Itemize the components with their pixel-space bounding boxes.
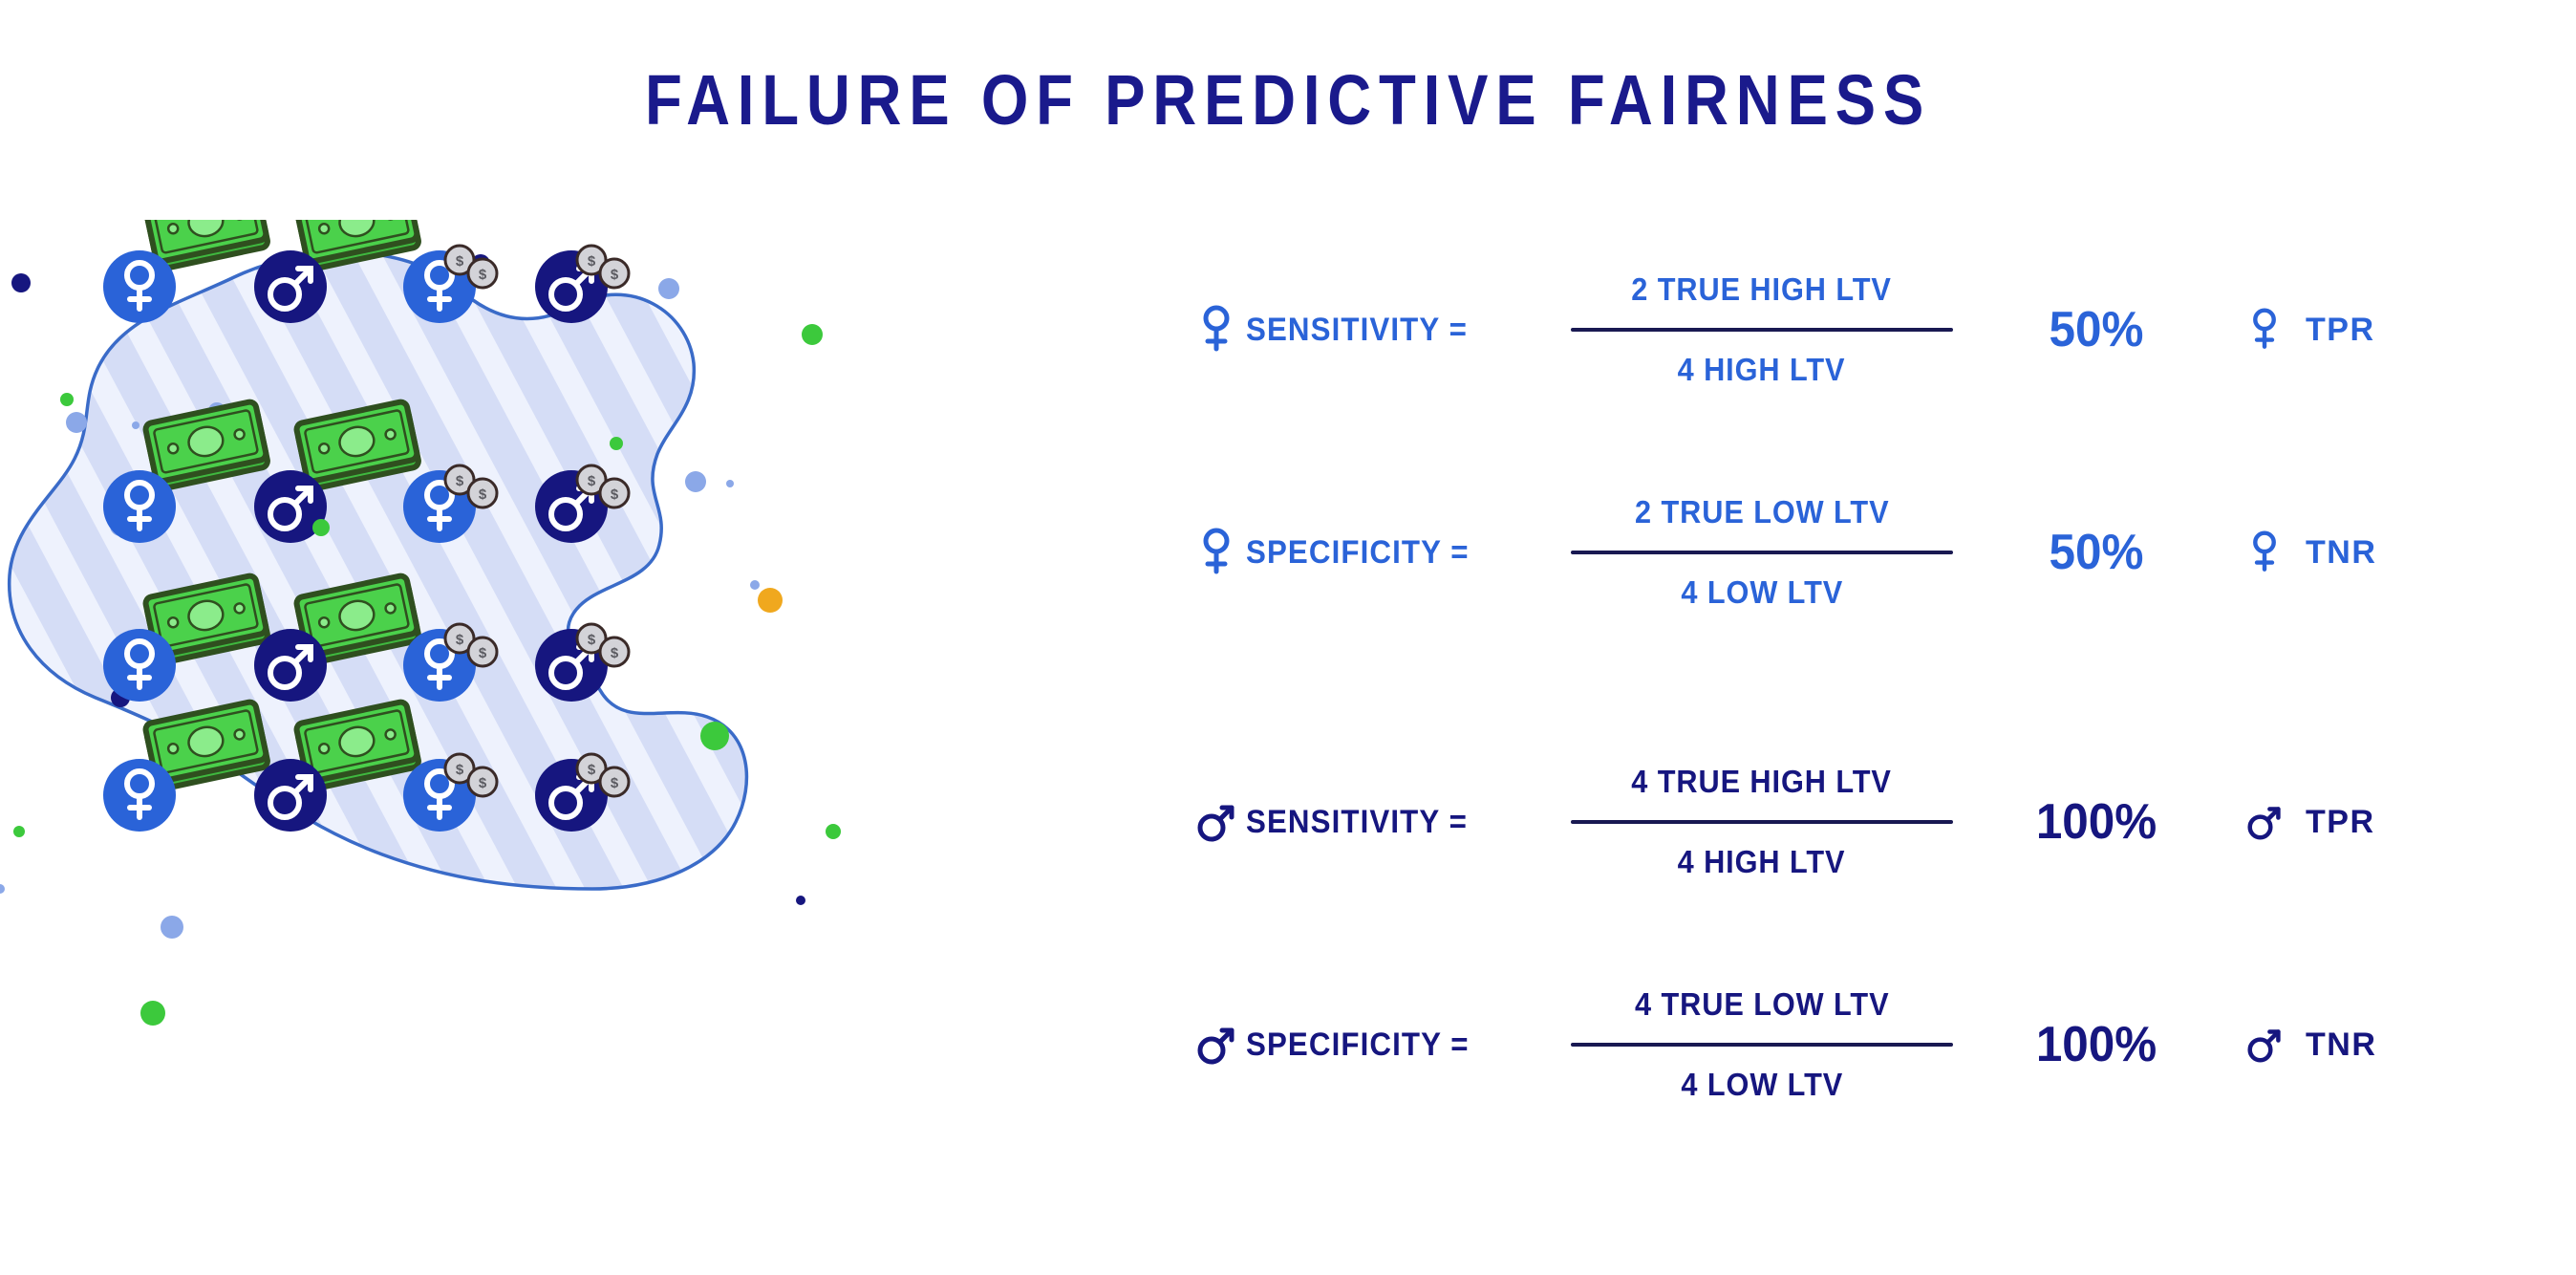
male-icon [1194,1011,1238,1078]
metrics-panel: SENSITIVITY = 2 TRUE HIGH LTV 4 HIGH LTV… [1194,239,2551,1195]
female-icon [2244,523,2285,582]
fraction: 2 TRUE HIGH LTV 4 HIGH LTV [1561,271,1963,388]
svg-text:$: $ [611,775,619,791]
svg-text:$: $ [611,645,619,661]
fraction-bar [1571,820,1953,824]
svg-text:$: $ [479,486,487,503]
rate-badge: TPR [2244,300,2375,359]
fraction-denominator: 4 LOW LTV [1681,574,1843,611]
female-icon [1194,296,1238,363]
metric-result: 50% [2006,524,2187,581]
svg-text:$: $ [479,775,487,791]
metric-row-male-sensitivity: SENSITIVITY = 4 TRUE HIGH LTV 4 HIGH LTV… [1194,731,2551,913]
page-title: FAILURE OF PREDICTIVE FAIRNESS [181,59,2396,140]
fraction: 4 TRUE LOW LTV 4 LOW LTV [1561,986,1963,1103]
metric-label: SPECIFICITY = [1246,534,1510,572]
fraction-denominator: 4 LOW LTV [1681,1067,1843,1103]
female-icon [2244,300,2285,359]
svg-text:$: $ [456,473,464,489]
male-icon [2244,1015,2285,1074]
female-person-icon [103,250,176,323]
fraction-numerator: 4 TRUE HIGH LTV [1632,764,1893,800]
svg-text:$: $ [588,253,596,270]
metric-row-male-specificity: SPECIFICITY = 4 TRUE LOW LTV 4 LOW LTV 1… [1194,954,2551,1135]
metric-row-female-sensitivity: SENSITIVITY = 2 TRUE HIGH LTV 4 HIGH LTV… [1194,239,2551,421]
rate-badge: TPR [2244,792,2375,852]
fraction-denominator: 4 HIGH LTV [1678,844,1846,880]
male-person-icon [254,629,327,702]
female-person-icon [103,759,176,832]
fraction-bar [1571,551,1953,554]
svg-text:$: $ [479,267,487,283]
rate-label: TPR [2306,804,2375,841]
population-illustration: $ $ $ $ [0,220,1166,1243]
svg-text:$: $ [611,267,619,283]
rate-label: TPR [2306,312,2375,349]
male-person-icon [254,250,327,323]
svg-text:$: $ [588,762,596,778]
fraction-numerator: 2 TRUE LOW LTV [1635,494,1889,530]
female-person-icon [103,470,176,543]
metric-row-female-specificity: SPECIFICITY = 2 TRUE LOW LTV 4 LOW LTV 5… [1194,462,2551,643]
metric-label: SENSITIVITY = [1246,312,1510,349]
svg-text:$: $ [611,486,619,503]
female-icon [1194,519,1238,586]
male-person-icon [254,759,327,832]
metric-label: SPECIFICITY = [1246,1026,1510,1064]
rate-label: TNR [2306,534,2376,572]
female-person-icon [103,629,176,702]
metric-result: 50% [2006,301,2187,358]
male-icon [1194,789,1238,855]
male-icon [2244,792,2285,852]
fraction-denominator: 4 HIGH LTV [1678,352,1846,388]
rate-badge: TNR [2244,1015,2376,1074]
metric-result: 100% [2006,793,2187,851]
rate-badge: TNR [2244,523,2376,582]
metric-result: 100% [2006,1016,2187,1073]
fraction-numerator: 4 TRUE LOW LTV [1635,986,1889,1023]
rate-label: TNR [2306,1026,2376,1064]
svg-text:$: $ [456,762,464,778]
svg-text:$: $ [456,632,464,648]
fraction-numerator: 2 TRUE HIGH LTV [1632,271,1893,308]
svg-text:$: $ [588,632,596,648]
svg-text:$: $ [456,253,464,270]
fraction: 4 TRUE HIGH LTV 4 HIGH LTV [1561,764,1963,880]
svg-text:$: $ [479,645,487,661]
fraction-bar [1571,1043,1953,1047]
fraction-bar [1571,328,1953,332]
svg-text:$: $ [588,473,596,489]
metric-label: SENSITIVITY = [1246,804,1510,841]
fraction: 2 TRUE LOW LTV 4 LOW LTV [1561,494,1963,611]
